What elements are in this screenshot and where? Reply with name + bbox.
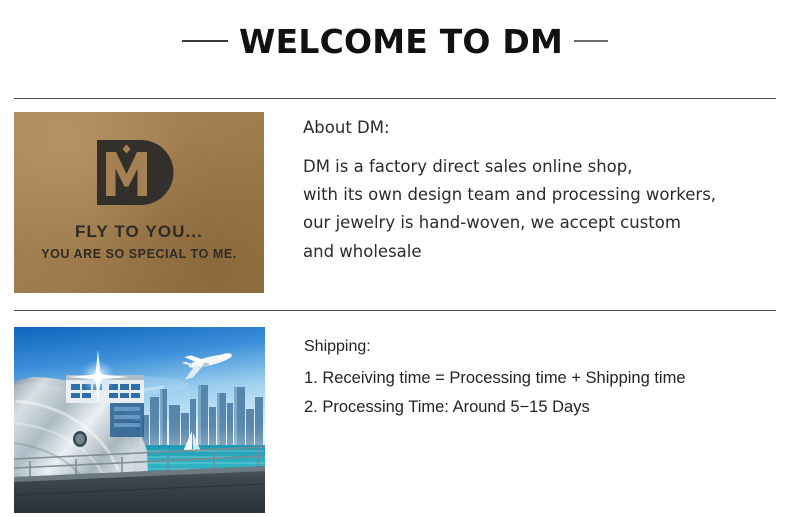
about-line: DM is a factory direct sales online shop…	[303, 155, 716, 178]
kraft-paper-background: FLY TO YOU... YOU ARE SO SPECIAL TO ME.	[14, 112, 264, 293]
about-line: our jewelry is hand-woven, we accept cus…	[303, 211, 716, 234]
kraft-card-logo-image: FLY TO YOU... YOU ARE SO SPECIAL TO ME.	[14, 112, 264, 293]
dm-monogram-icon	[93, 138, 185, 207]
about-line: with its own design team and processing …	[303, 183, 716, 206]
title-group: WELCOME TO DM	[182, 25, 608, 58]
about-copy: About DM: DM is a factory direct sales o…	[303, 112, 716, 293]
about-heading: About DM:	[303, 120, 716, 137]
shipping-line: 2. Processing Time: Around 5−15 Days	[304, 397, 686, 418]
card-tagline-secondary: YOU ARE SO SPECIAL TO ME.	[14, 247, 264, 261]
shipping-logistics-image	[14, 327, 265, 513]
shipping-line: 1. Receiving time = Processing time + Sh…	[304, 368, 686, 389]
section-shipping: Shipping: 1. Receiving time = Processing…	[14, 327, 686, 513]
divider-top	[14, 98, 776, 99]
shipping-copy: Shipping: 1. Receiving time = Processing…	[304, 327, 686, 513]
title-dash-left-icon	[182, 40, 228, 42]
shipping-heading: Shipping:	[304, 339, 686, 355]
card-tagline-primary: FLY TO YOU...	[14, 222, 264, 242]
logistics-photo-background	[14, 327, 265, 513]
logistics-scene-graphic	[14, 327, 265, 513]
page-header: WELCOME TO DM	[0, 0, 790, 98]
about-line: and wholesale	[303, 240, 716, 263]
about-body: DM is a factory direct sales online shop…	[303, 155, 716, 264]
title-dash-right-icon	[574, 40, 608, 42]
shipping-body: 1. Receiving time = Processing time + Sh…	[304, 368, 686, 419]
divider-middle	[14, 310, 776, 311]
section-about: FLY TO YOU... YOU ARE SO SPECIAL TO ME. …	[14, 112, 716, 293]
page-title: WELCOME TO DM	[239, 25, 563, 58]
